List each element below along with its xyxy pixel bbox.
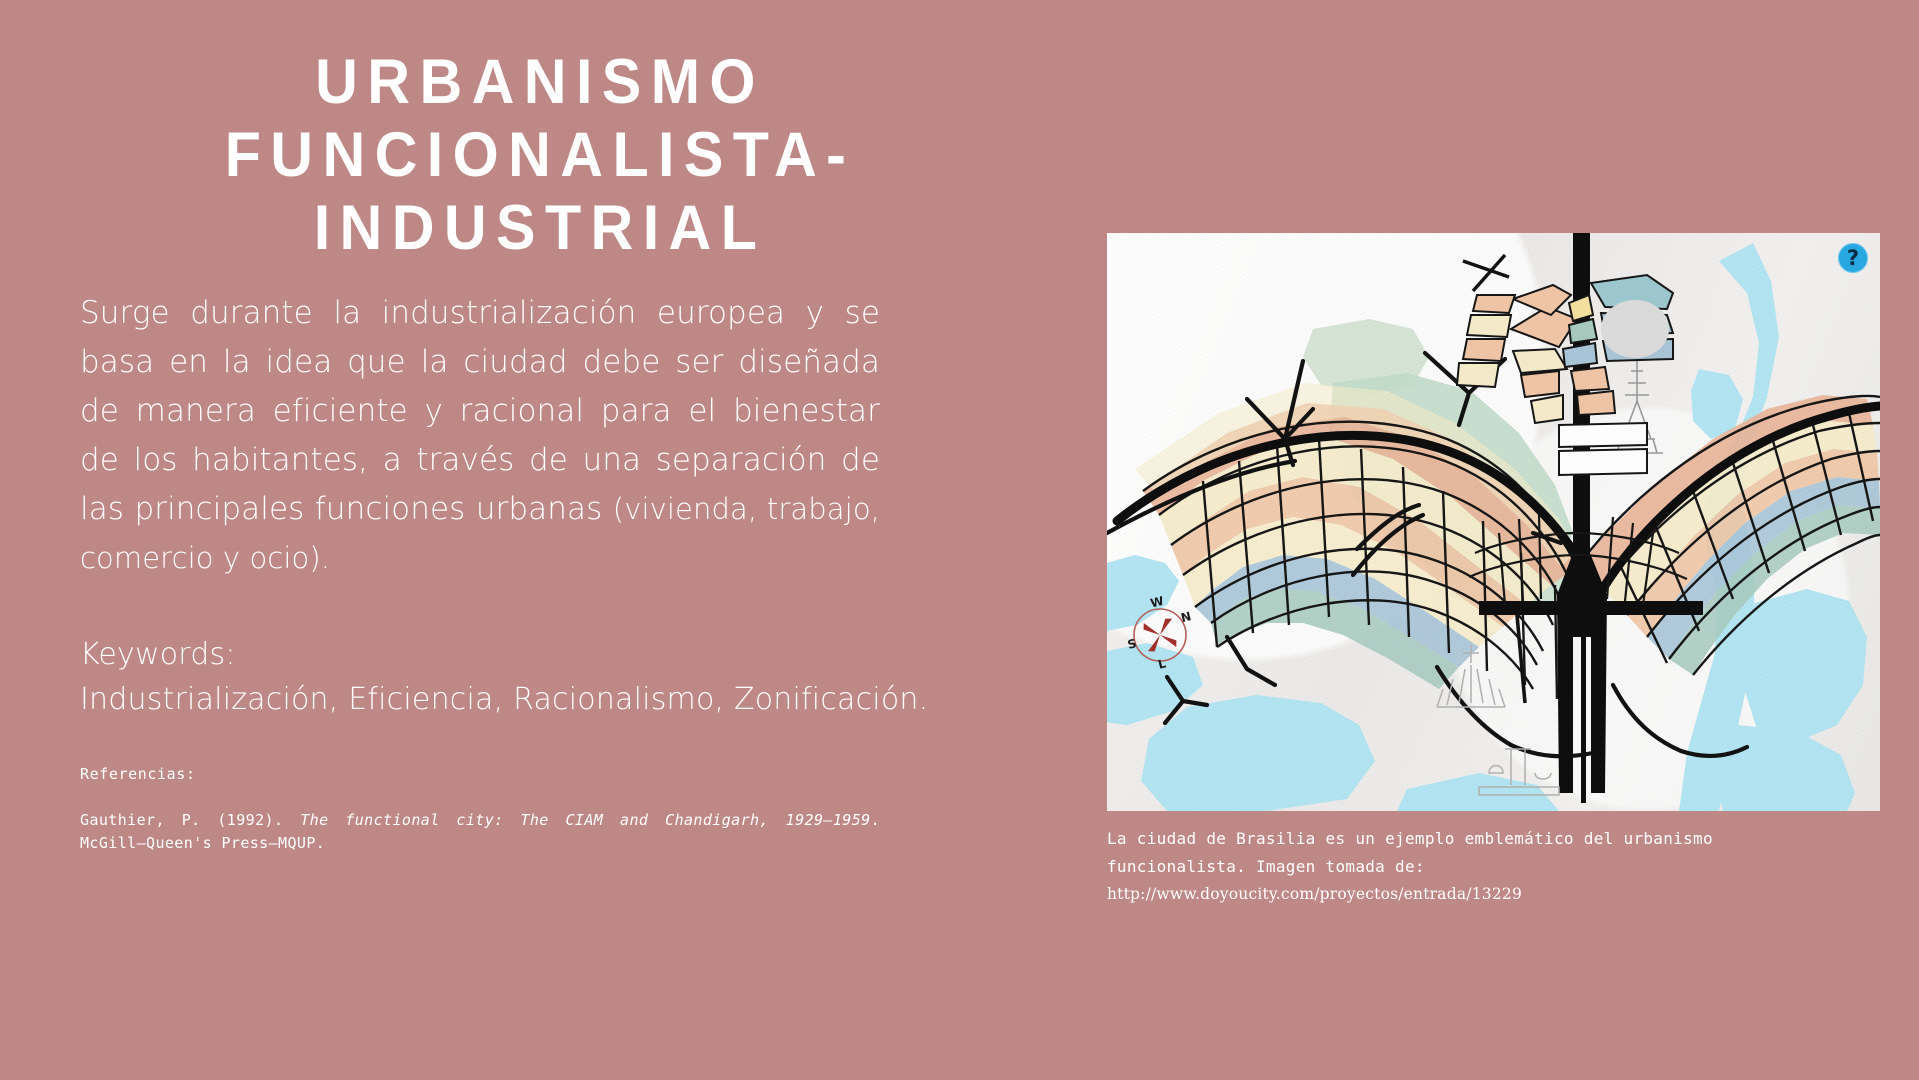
reference-entry: Gauthier, P. (1992). The functional city… (80, 809, 880, 856)
keywords-label: Keywords: (80, 637, 1080, 672)
figure-brasilia-map: W N S L ? (1107, 233, 1880, 811)
caption-source-url[interactable]: http://www.doyoucity.com/proyectos/entra… (1107, 881, 1887, 908)
references-label: Referencias: (80, 765, 1080, 783)
map-frame: W N S L ? (1107, 233, 1880, 811)
help-icon[interactable]: ? (1838, 243, 1868, 273)
keywords-list: Industrialización, Eficiencia, Racionali… (80, 682, 1080, 717)
paper-grain-overlay (1107, 233, 1880, 811)
slide-root: URBANISMO FUNCIONALISTA-INDUSTRIAL Surge… (0, 0, 1919, 1080)
page-title: URBANISMO FUNCIONALISTA-INDUSTRIAL (108, 46, 973, 265)
reference-author: Gauthier, P. (1992). (80, 811, 300, 829)
figure-caption: La ciudad de Brasilia es un ejemplo embl… (1107, 825, 1887, 908)
left-content-column: URBANISMO FUNCIONALISTA-INDUSTRIAL Surge… (80, 46, 1080, 856)
body-paragraph: Surge durante la industrialización europ… (80, 289, 880, 583)
reference-title: The functional city: The CIAM and Chandi… (300, 811, 870, 829)
caption-line-1: La ciudad de Brasilia es un ejemplo embl… (1107, 825, 1887, 853)
caption-line-2: funcionalista. Imagen tomada de: (1107, 853, 1887, 881)
